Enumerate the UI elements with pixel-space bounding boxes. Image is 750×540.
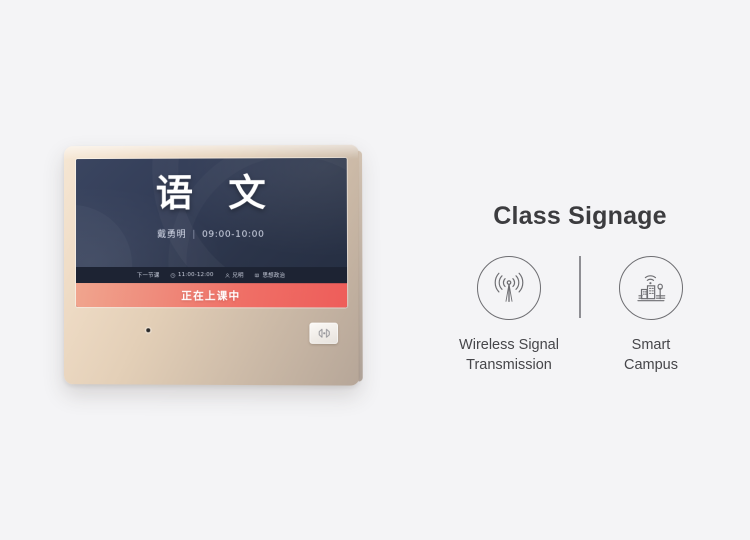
- next-class-subject-chip: 思想政治: [255, 271, 285, 279]
- screen-main-area: 语 文 戴勇明|09:00-10:00: [76, 158, 347, 267]
- next-class-time-chip: 11:00-12:00: [170, 272, 213, 278]
- feature-label: Smart Campus: [624, 336, 678, 375]
- nfc-card-reader[interactable]: [309, 323, 338, 344]
- feature-wireless-signal-transmission: Wireless Signal Transmission: [439, 256, 579, 375]
- speaker-wave-icon: [316, 328, 331, 339]
- current-teacher-name: 戴勇明: [157, 230, 186, 240]
- current-time-range: 09:00-10:00: [202, 230, 265, 240]
- camera-sensor-dot: [146, 328, 150, 332]
- next-class-teacher: 兄明: [232, 271, 243, 279]
- feature-smart-campus: Smart Campus: [581, 256, 721, 375]
- person-icon: [225, 273, 230, 278]
- next-class-label-chip: 下一节课: [137, 271, 160, 279]
- next-class-label: 下一节课: [137, 271, 160, 279]
- page-title: Class Signage: [410, 202, 750, 231]
- wireless-antenna-icon: [477, 256, 541, 320]
- current-class-meta: 戴勇明|09:00-10:00: [76, 227, 347, 240]
- next-class-subject: 思想政治: [262, 271, 285, 279]
- next-class-strip: 下一节课 11:00-12:00 兄明: [76, 267, 347, 283]
- feature-panel: Class Signage Wireless Signal Transmissi…: [410, 0, 750, 540]
- device-right-edge: [358, 151, 363, 382]
- clock-icon: [170, 273, 175, 278]
- class-signage-device: 语 文 戴勇明|09:00-10:00 下一节课 11:00-12:00: [64, 145, 360, 386]
- feature-list: Wireless Signal Transmission: [410, 256, 750, 375]
- current-subject-title: 语 文: [76, 174, 347, 212]
- next-class-time: 11:00-12:00: [178, 272, 214, 278]
- book-icon: [255, 273, 260, 278]
- next-class-teacher-chip: 兄明: [225, 271, 244, 279]
- smart-campus-icon: [619, 256, 683, 320]
- feature-label: Wireless Signal Transmission: [459, 336, 559, 375]
- meta-separator: |: [192, 230, 196, 240]
- class-status-banner: 正在上课中: [76, 283, 347, 307]
- product-photo-area: 语 文 戴勇明|09:00-10:00 下一节课 11:00-12:00: [0, 0, 410, 540]
- device-screen: 语 文 戴勇明|09:00-10:00 下一节课 11:00-12:00: [76, 158, 347, 308]
